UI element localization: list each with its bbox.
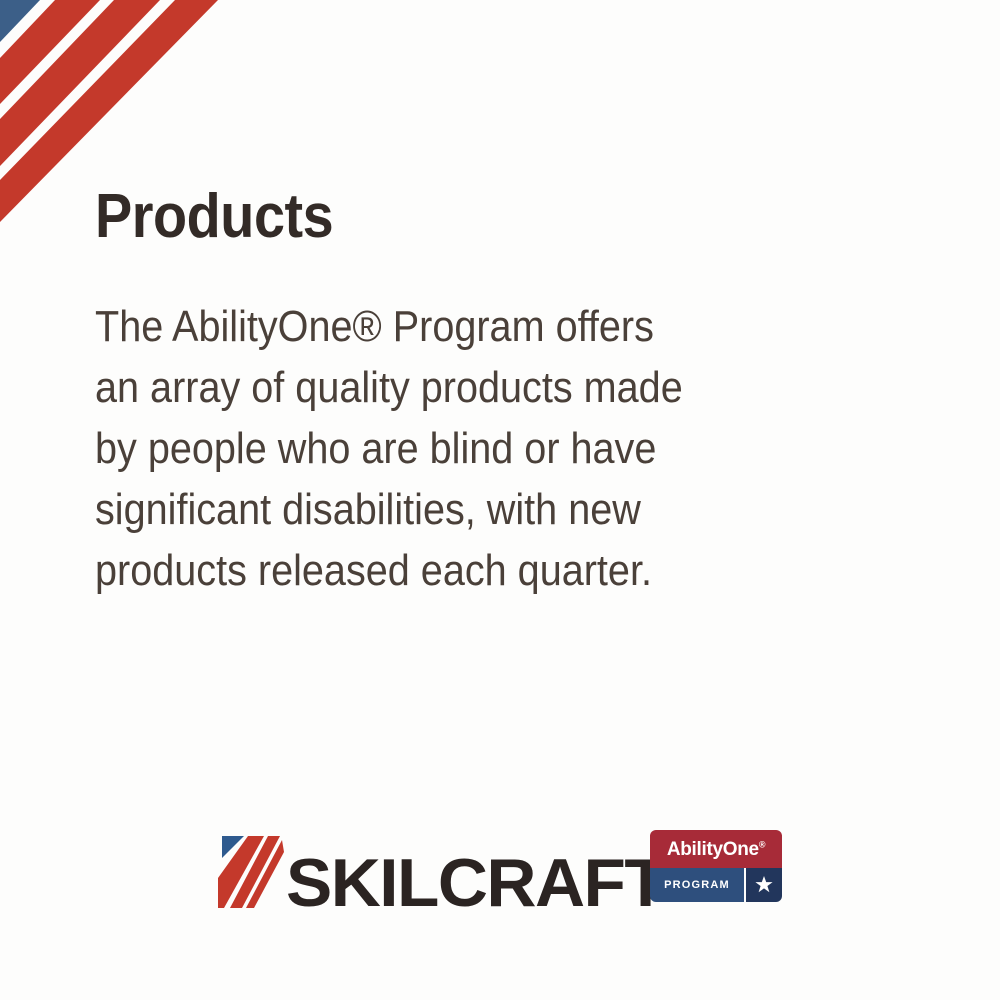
abilityone-program-label: PROGRAM [664,880,730,891]
card-content: Products The AbilityOne® Program offers … [95,186,885,601]
body-line: by people who are blind or have [95,418,869,479]
abilityone-badge-bottom: PROGRAM [650,868,782,902]
body-paragraph: The AbilityOne® Program offers an array … [95,296,869,601]
abilityone-badge: AbilityOne® PROGRAM [650,830,782,902]
abilityone-badge-top: AbilityOne® [650,830,782,868]
body-line: products released each quarter. [95,540,869,601]
abilityone-name: AbilityOne [667,839,759,860]
body-line: The AbilityOne® Program offers [95,296,869,357]
product-info-card: Products The AbilityOne® Program offers … [0,0,1000,1000]
skilcraft-wordmark: SKILCRAFT [286,856,665,912]
body-line: an array of quality products made [95,357,869,418]
skilcraft-chevron-icon [218,830,284,912]
logo-row: SKILCRAFT AbilityOne® PROGRAM [0,818,1000,928]
registered-mark: ® [759,839,765,849]
skilcraft-logo: SKILCRAFT [218,826,658,912]
abilityone-badge-title: AbilityOne® [667,840,765,859]
body-line: significant disabilities, with new [95,479,869,540]
star-icon [744,868,782,902]
abilityone-program-band: PROGRAM [650,868,744,902]
page-title: Products [95,186,806,248]
